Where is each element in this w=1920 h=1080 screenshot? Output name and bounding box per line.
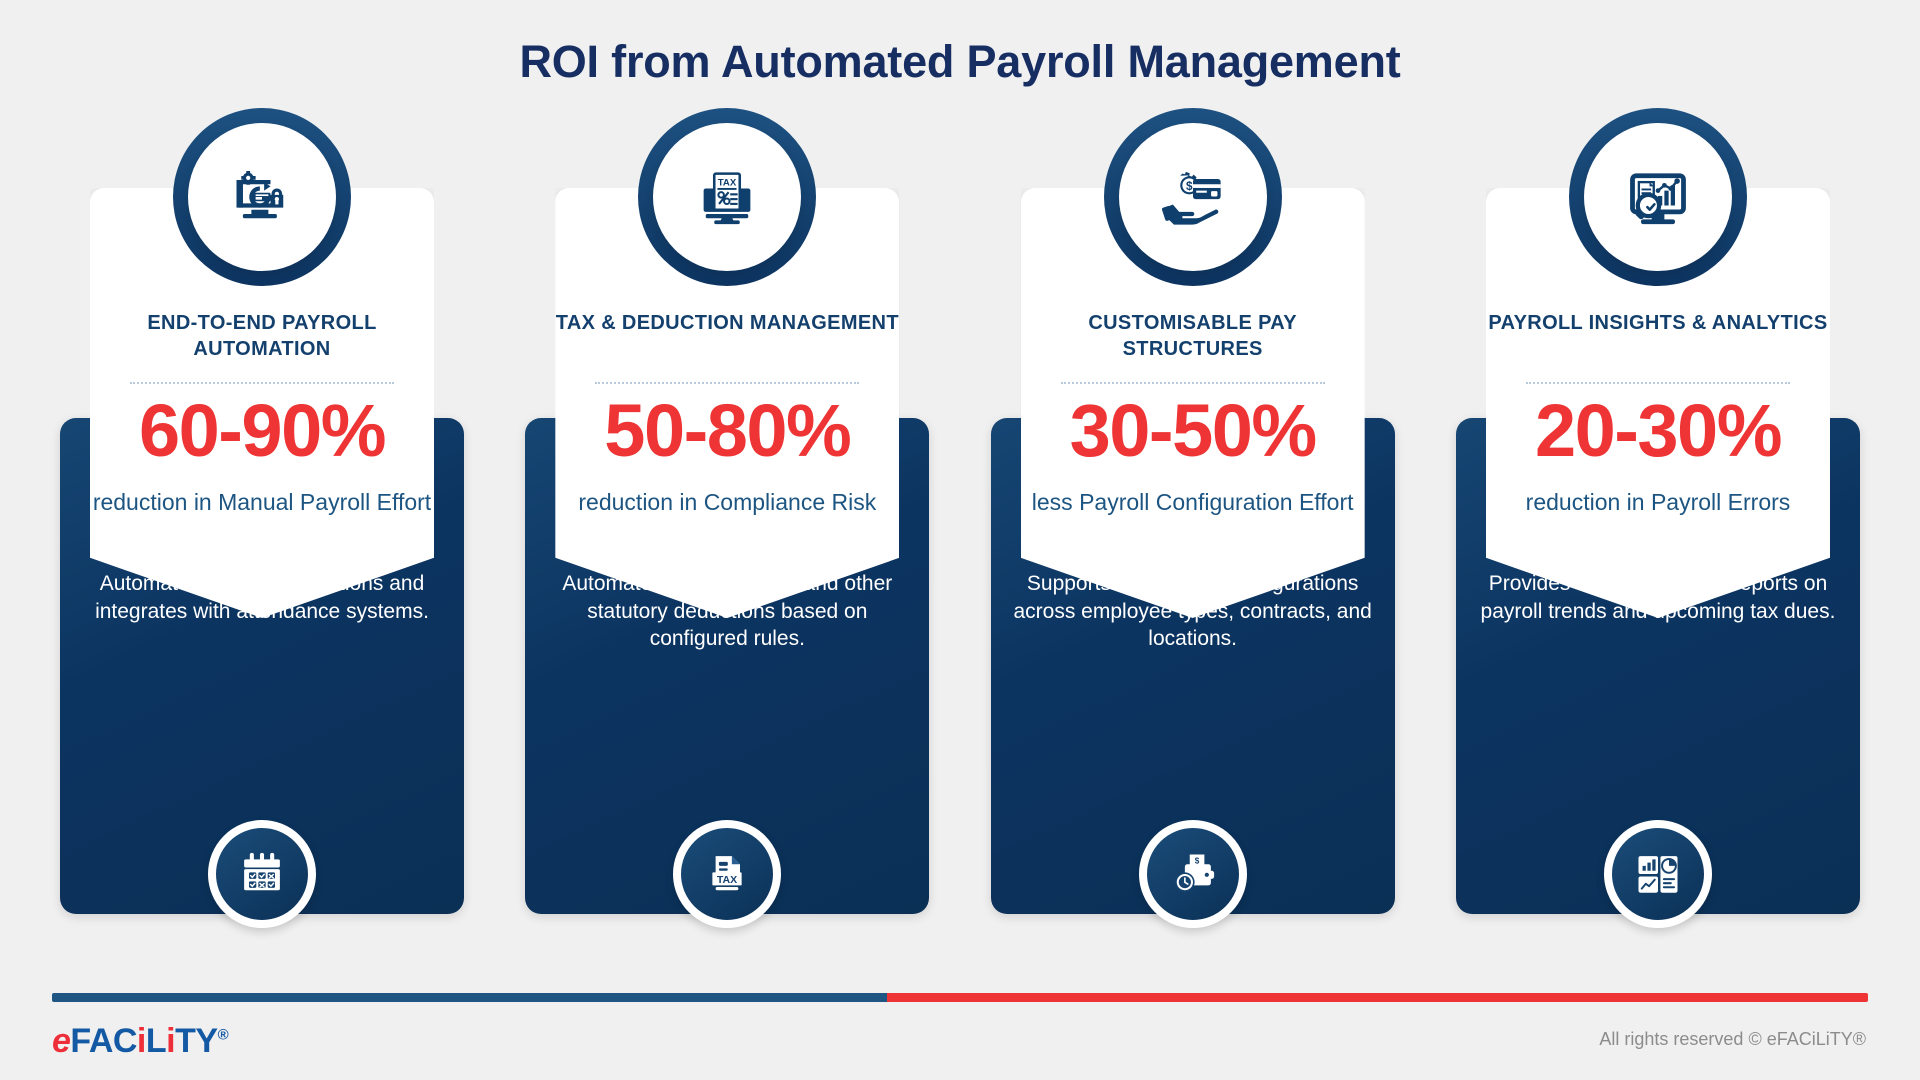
card-heading: END-TO-END PAYROLL AUTOMATION <box>90 310 434 362</box>
page-title: ROI from Automated Payroll Management <box>0 36 1920 88</box>
card-tax-deduction-management[interactable]: TAX TAX & DEDUCTION MANAGEMENT 50-80% re… <box>517 140 937 970</box>
card-divider <box>130 382 394 384</box>
calendar-check-icon <box>208 820 316 928</box>
footer-divider-red <box>887 993 1868 1002</box>
tax-monitor-percent-icon: TAX <box>653 123 801 271</box>
analytics-monitor-search-icon <box>1584 123 1732 271</box>
wallet-clock-icon: $ <box>1139 820 1247 928</box>
card-heading: TAX & DEDUCTION MANAGEMENT <box>555 310 899 336</box>
card-description: Automates PF, ESI, TDS, and other statut… <box>545 570 909 653</box>
card-description: Supports flexible pay configurations acr… <box>1011 570 1375 653</box>
footer-divider <box>52 993 1868 1002</box>
card-stat-value: 30-50% <box>1021 388 1365 473</box>
card-heading: CUSTOMISABLE PAY STRUCTURES <box>1021 310 1365 362</box>
card-stat-value: 20-30% <box>1486 388 1830 473</box>
card-heading: PAYROLL INSIGHTS & ANALYTICS <box>1486 310 1830 336</box>
hand-card-gear-icon: $ <box>1119 123 1267 271</box>
svg-text:$: $ <box>1194 856 1199 865</box>
card-stat-value: 60-90% <box>90 388 434 473</box>
cards-row: END-TO-END PAYROLL AUTOMATION 60-90% red… <box>52 140 1868 970</box>
card-stat-label: reduction in Manual Payroll Effort <box>90 488 434 517</box>
infographic-page: ROI from Automated Payroll Management <box>0 0 1920 1080</box>
card-description: Provides dashboards and reports on payro… <box>1476 570 1840 625</box>
card-payroll-insights-analytics[interactable]: PAYROLL INSIGHTS & ANALYTICS 20-30% redu… <box>1448 140 1868 970</box>
card-customisable-pay-structures[interactable]: $ CUSTOMISABLE PAY STRUCTURES 30-50% les… <box>983 140 1403 970</box>
card-stat-value: 50-80% <box>555 388 899 473</box>
dashboard-charts-icon <box>1604 820 1712 928</box>
card-description: Automates payroll calculations and integ… <box>80 570 444 625</box>
svg-text:TAX: TAX <box>718 177 737 188</box>
tax-document-icon: TAX <box>673 820 781 928</box>
svg-text:$: $ <box>1186 180 1193 193</box>
card-divider <box>1526 382 1790 384</box>
copyright-text: All rights reserved © eFACiLiTY® <box>1599 1029 1866 1050</box>
footer-divider-blue <box>52 993 887 1002</box>
card-stat-label: reduction in Payroll Errors <box>1486 488 1830 517</box>
card-stat-label: less Payroll Configuration Effort <box>1021 488 1365 517</box>
svg-text:TAX: TAX <box>717 874 737 886</box>
card-stat-label: reduction in Compliance Risk <box>555 488 899 517</box>
registered-mark: ® <box>218 1027 229 1044</box>
card-divider <box>595 382 859 384</box>
card-end-to-end-payroll-automation[interactable]: END-TO-END PAYROLL AUTOMATION 60-90% red… <box>52 140 472 970</box>
card-divider <box>1061 382 1325 384</box>
efacility-logo[interactable]: eFACiLiTY® <box>52 1024 228 1058</box>
payroll-automation-monitor-icon <box>188 123 336 271</box>
